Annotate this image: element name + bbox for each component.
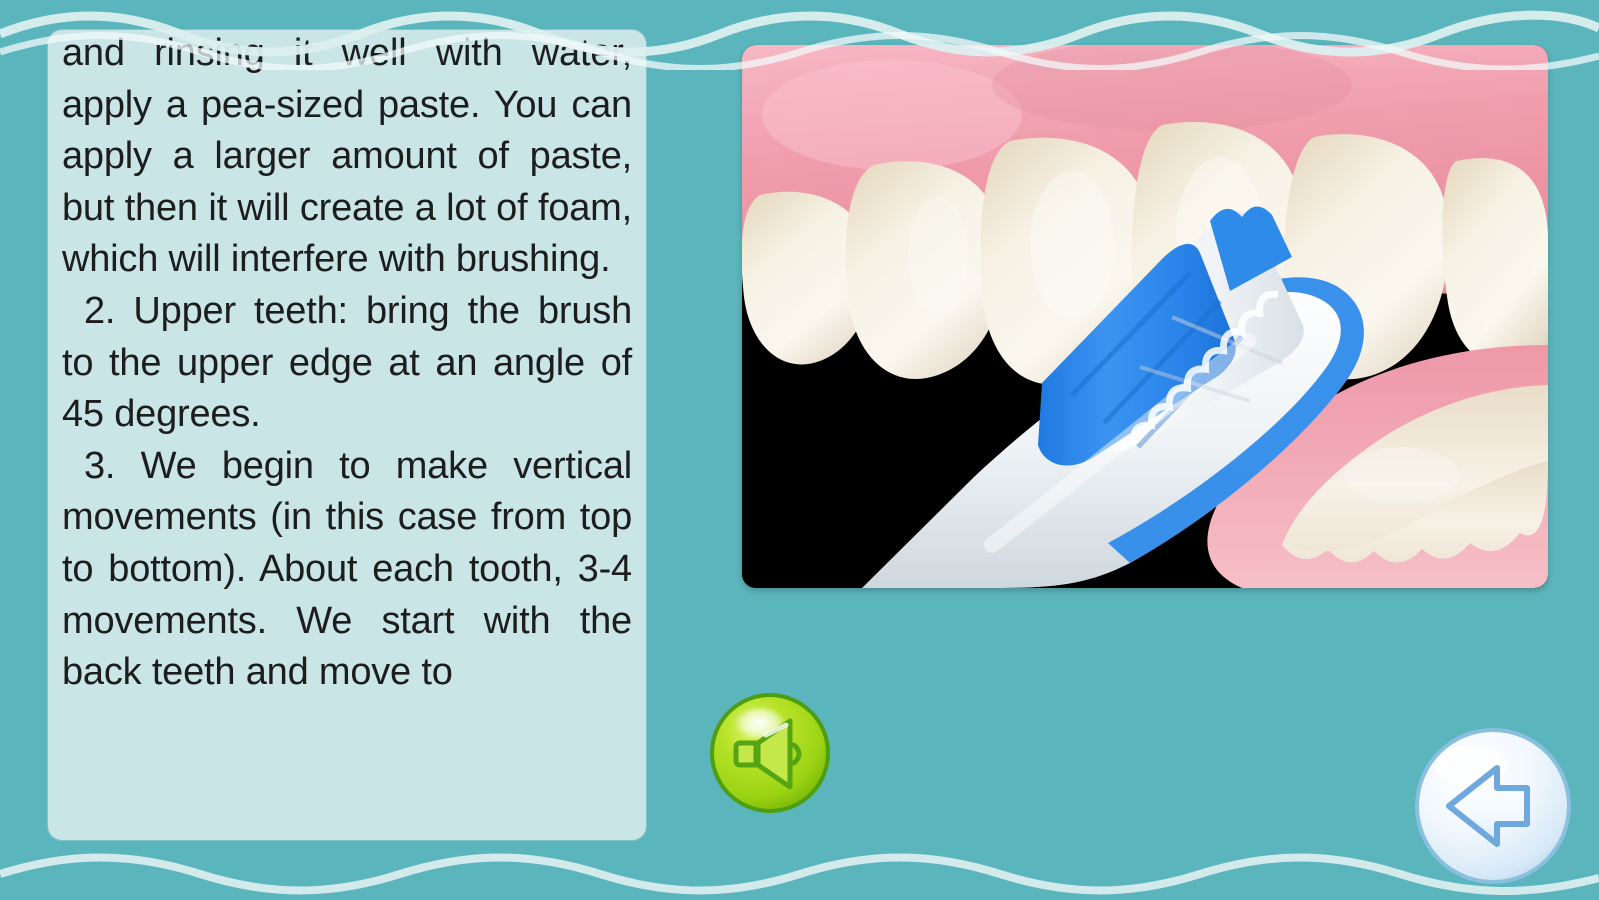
paragraph-3: 3. We begin to make vertical movements (… — [62, 441, 632, 699]
audio-play-button[interactable] — [706, 689, 834, 817]
wave-bottom-decoration — [0, 840, 1599, 900]
back-navigation-button[interactable] — [1409, 722, 1577, 890]
paragraph-1: and rinsing it well with water, apply a … — [62, 30, 632, 286]
app-root: and rinsing it well with water, apply a … — [0, 0, 1599, 900]
speaker-icon — [706, 689, 834, 817]
arrow-left-icon — [1409, 722, 1577, 890]
illustration-svg — [742, 45, 1548, 588]
tooth-brushing-illustration — [742, 45, 1548, 588]
lesson-text-panel[interactable]: and rinsing it well with water, apply a … — [48, 30, 646, 840]
paragraph-2: 2. Upper teeth: bring the brush to the u… — [62, 286, 632, 441]
